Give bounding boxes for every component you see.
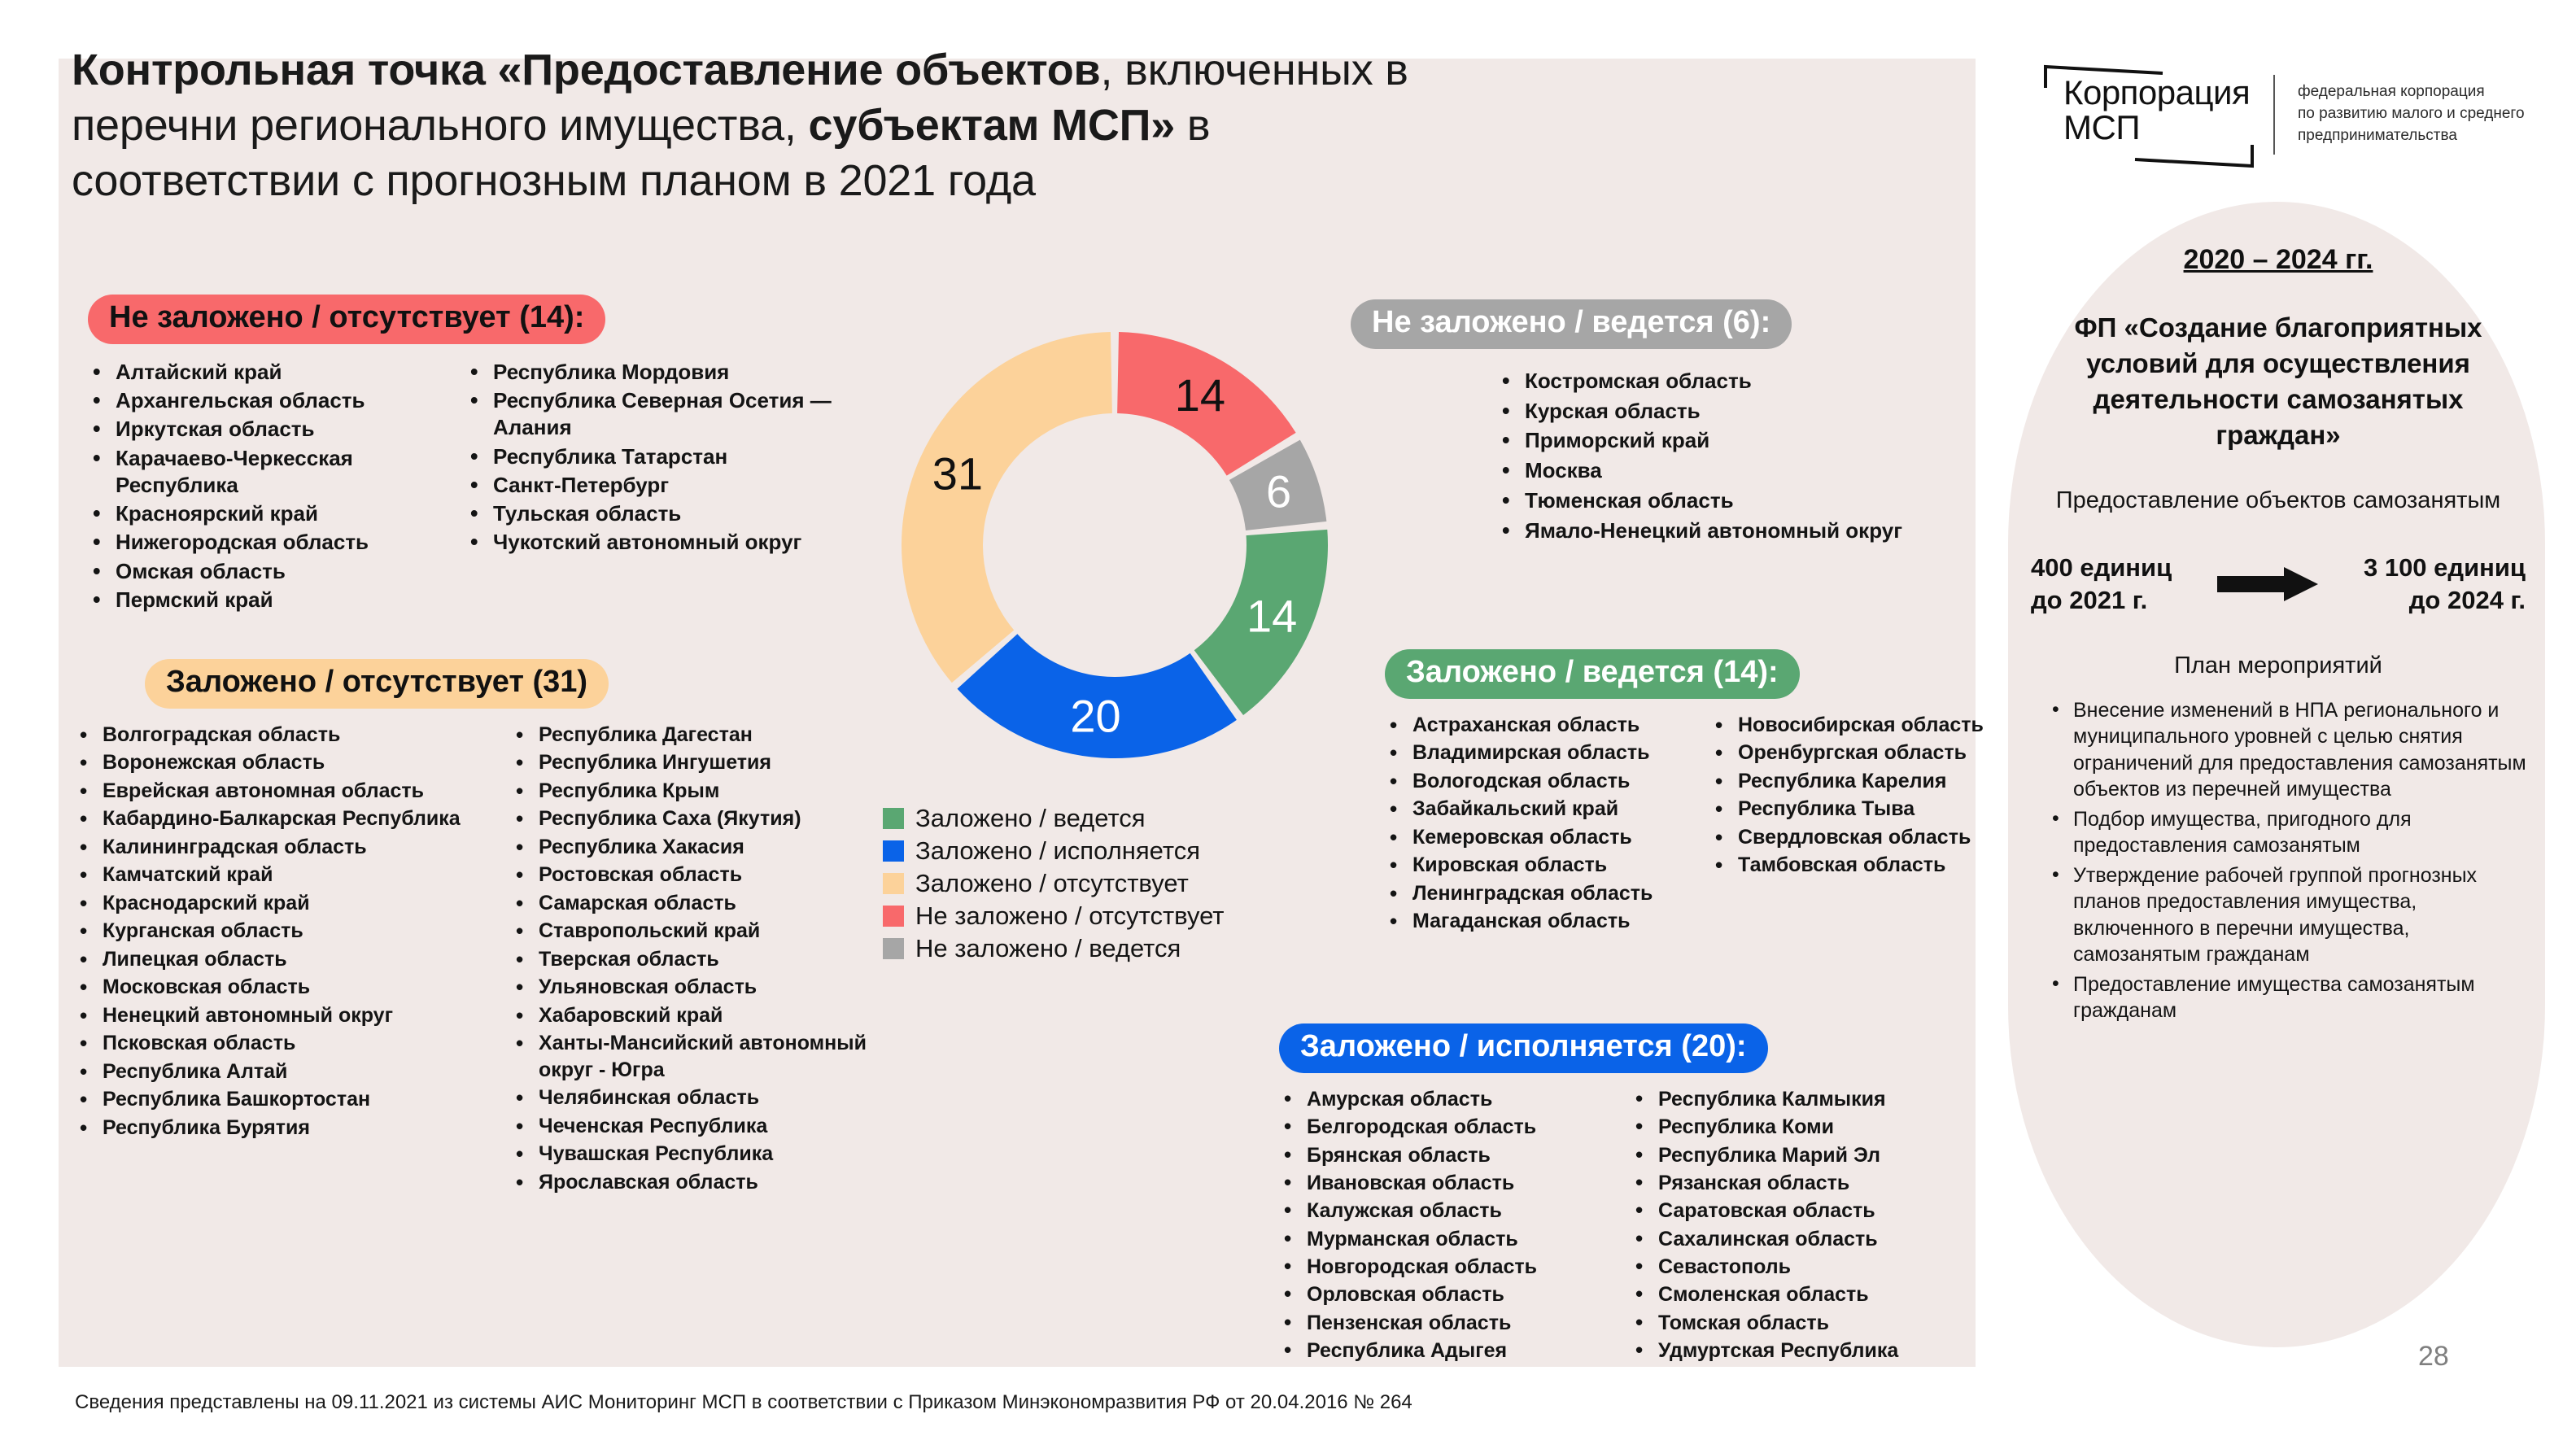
region-list-item: Томская область bbox=[1631, 1310, 1980, 1336]
target-future-value: 3 100 единиц bbox=[2364, 552, 2526, 584]
slide-root: Контрольная точка «Предоставление объект… bbox=[0, 0, 2576, 1449]
region-list-item: Республика Хакасия bbox=[511, 834, 893, 861]
region-list-item: Костромская область bbox=[1497, 367, 1993, 395]
category-header-planned-inprogress: Заложено / ведется (14): bbox=[1385, 649, 1800, 699]
region-list-item: Республика Алтай bbox=[75, 1058, 498, 1085]
legend-swatch-icon bbox=[883, 808, 904, 829]
category-block-planned-inprogress: Заложено / ведется (14): Астраханская об… bbox=[1385, 649, 1995, 936]
legend-item: Заложено / исполняется bbox=[883, 838, 1225, 863]
category-block-planned-executing: Заложено / исполняется (20): Амурская об… bbox=[1279, 1023, 1995, 1366]
legend-label: Заложено / ведется bbox=[915, 805, 1146, 831]
region-list-item: Республика Мордовия bbox=[465, 359, 897, 386]
legend-swatch-icon bbox=[883, 938, 904, 959]
region-list-item: Ростовская область bbox=[511, 862, 893, 888]
right-panel-plan-list: Внесение изменений в НПА регионального и… bbox=[2028, 697, 2529, 1024]
region-list-item: Московская область bbox=[75, 974, 498, 1001]
region-list-item: Новгородская область bbox=[1279, 1254, 1621, 1280]
region-list-item: Мурманская область bbox=[1279, 1226, 1621, 1252]
legend-item: Не заложено / отсутствует bbox=[883, 903, 1225, 928]
region-list-item: Свердловская область bbox=[1710, 824, 1995, 851]
donut-chart: 146142031 bbox=[887, 317, 1343, 773]
region-list-item: Оренбургская область bbox=[1710, 740, 1995, 766]
donut-slice-value: 20 bbox=[1070, 691, 1120, 742]
region-list-item: Камчатский край bbox=[75, 862, 498, 888]
right-panel-subtitle: Предоставление объектов самозанятым bbox=[2028, 486, 2529, 517]
region-list-item: Тюменская область bbox=[1497, 487, 1993, 515]
category-header-planned-executing: Заложено / исполняется (20): bbox=[1279, 1023, 1768, 1073]
region-list-item: Алтайский край bbox=[88, 359, 454, 386]
region-list-item: Республика Ингушетия bbox=[511, 749, 893, 776]
region-list-item: Саратовская область bbox=[1631, 1198, 1980, 1224]
target-future: 3 100 единиц до 2024 г. bbox=[2364, 552, 2526, 616]
chart-legend: Заложено / ведетсяЗаложено / исполняется… bbox=[883, 805, 1225, 968]
region-columns: Амурская областьБелгородская областьБрян… bbox=[1279, 1086, 1995, 1366]
logo-tagline-2: по развитию малого и среднего bbox=[2298, 103, 2525, 125]
category-header-planned-absent: Заложено / отсутствует (31) bbox=[145, 659, 609, 709]
region-list-column-b: Республика КалмыкияРеспублика КомиРеспуб… bbox=[1631, 1086, 1980, 1366]
region-list-item: Брянская область bbox=[1279, 1142, 1621, 1168]
right-panel-years: 2020 – 2024 гг. bbox=[2028, 244, 2529, 276]
plan-list-item: Утверждение рабочей группой прогнозных п… bbox=[2049, 862, 2529, 968]
legend-label: Не заложено / отсутствует bbox=[915, 903, 1225, 928]
region-list-item: Республика Коми bbox=[1631, 1114, 1980, 1140]
logo-divider bbox=[2273, 75, 2275, 155]
donut-slice-value: 31 bbox=[932, 448, 983, 500]
legend-item: Заложено / отсутствует bbox=[883, 871, 1225, 896]
region-list-item: Курская область bbox=[1497, 397, 1993, 426]
region-list-item: Карачаево-Черкесская Республика bbox=[88, 445, 454, 500]
region-list-item: Сахалинская область bbox=[1631, 1226, 1980, 1252]
category-block-not-planned-absent: Не заложено / отсутствует (14): Алтайски… bbox=[88, 295, 910, 615]
region-list-item: Республика Крым bbox=[511, 778, 893, 805]
region-list-column-a: Астраханская областьВладимирская область… bbox=[1385, 712, 1702, 936]
region-list-item: Смоленская область bbox=[1631, 1281, 1980, 1307]
legend-label: Не заложено / ведется bbox=[915, 936, 1181, 961]
region-list-column-b: Новосибирская областьОренбургская област… bbox=[1710, 712, 1995, 936]
region-list-item: Ставропольский край bbox=[511, 918, 893, 945]
region-list-item: Ханты-Мансийский автономный округ - Югра bbox=[511, 1030, 893, 1083]
region-list-item: Тверская область bbox=[511, 946, 893, 973]
logo-tagline-3: предпринимательства bbox=[2298, 125, 2525, 147]
logo-tagline-1: федеральная корпорация bbox=[2298, 81, 2525, 103]
region-list-item: Республика Бурятия bbox=[75, 1115, 498, 1141]
region-list-item: Калининградская область bbox=[75, 834, 498, 861]
legend-swatch-icon bbox=[883, 873, 904, 894]
region-list-item: Республика Карелия bbox=[1710, 768, 1995, 795]
target-current-deadline: до 2021 г. bbox=[2031, 584, 2172, 617]
donut-slice-value: 14 bbox=[1175, 369, 1225, 421]
region-list-item: Севастополь bbox=[1631, 1254, 1980, 1280]
plan-list-item: Подбор имущества, пригодного для предост… bbox=[2049, 806, 2529, 859]
target-current-value: 400 единиц bbox=[2031, 552, 2172, 584]
plan-list-item: Предоставление имущества самозанятым гра… bbox=[2049, 971, 2529, 1024]
region-list-item: Владимирская область bbox=[1385, 740, 1702, 766]
title-line2-tail: в bbox=[1175, 101, 1210, 150]
region-list-item: Рязанская область bbox=[1631, 1170, 1980, 1196]
region-list-item: Чукотский автономный округ bbox=[465, 529, 897, 556]
region-list-item: Иркутская область bbox=[88, 416, 454, 443]
region-list-item: Чувашская Республика bbox=[511, 1141, 893, 1167]
right-panel-plan-title: План мероприятий bbox=[2028, 652, 2529, 679]
region-list-item: Волгоградская область bbox=[75, 722, 498, 749]
title-line1-rest: , включенных в bbox=[1101, 46, 1408, 94]
region-list-item: Ленинградская область bbox=[1385, 880, 1702, 907]
region-list-column-a: Алтайский крайАрхангельская областьИркут… bbox=[88, 359, 454, 615]
region-list-item: Самарская область bbox=[511, 890, 893, 917]
region-list-item: Республика Калмыкия bbox=[1631, 1086, 1980, 1112]
region-list-item: Пермский край bbox=[88, 587, 454, 613]
title-line3: соответствии с прогнозным планом в 2021 … bbox=[72, 156, 1036, 205]
donut-slice bbox=[902, 332, 1112, 683]
donut-slice-value: 6 bbox=[1266, 465, 1291, 517]
region-list-item: Орловская область bbox=[1279, 1281, 1621, 1307]
region-columns: Астраханская областьВладимирская область… bbox=[1385, 712, 1995, 936]
region-list-item: Ненецкий автономный округ bbox=[75, 1002, 498, 1029]
region-list-item: Санкт-Петербург bbox=[465, 472, 897, 499]
region-list-item: Республика Татарстан bbox=[465, 443, 897, 470]
region-list-item: Магаданская область bbox=[1385, 908, 1702, 935]
region-list-item: Воронежская область bbox=[75, 749, 498, 776]
region-list-item: Липецкая область bbox=[75, 946, 498, 973]
plan-list-item: Внесение изменений в НПА регионального и… bbox=[2049, 697, 2529, 803]
region-list-item: Республика Башкортостан bbox=[75, 1086, 498, 1113]
region-list-column-b: Республика ДагестанРеспублика ИнгушетияР… bbox=[511, 722, 893, 1198]
region-list-item: Псковская область bbox=[75, 1030, 498, 1057]
region-columns: Алтайский крайАрхангельская областьИркут… bbox=[88, 359, 910, 615]
region-list-item: Курганская область bbox=[75, 918, 498, 945]
region-list-item: Хабаровский край bbox=[511, 1002, 893, 1029]
region-list-item: Архангельская область bbox=[88, 387, 454, 414]
region-columns: Волгоградская областьВоронежская область… bbox=[75, 722, 913, 1198]
target-current: 400 единиц до 2021 г. bbox=[2031, 552, 2172, 616]
region-list-column-a: Амурская областьБелгородская областьБрян… bbox=[1279, 1086, 1621, 1366]
region-list-column-a: Волгоградская областьВоронежская область… bbox=[75, 722, 498, 1198]
right-panel-targets: 400 единиц до 2021 г. 3 100 единиц до 20… bbox=[2028, 552, 2529, 616]
region-list-item: Вологодская область bbox=[1385, 768, 1702, 795]
region-list-item: Забайкальский край bbox=[1385, 796, 1702, 823]
footer-note: Сведения представлены на 09.11.2021 из с… bbox=[75, 1391, 1412, 1414]
region-list-item: Ивановская область bbox=[1279, 1170, 1621, 1196]
logo-wordmark: Корпорация МСП bbox=[2063, 75, 2250, 146]
legend-item: Заложено / ведется bbox=[883, 805, 1225, 831]
category-block-planned-absent: Заложено / отсутствует (31) Волгоградска… bbox=[75, 659, 913, 1197]
corporation-msp-logo: Корпорация МСП федеральная корпорация по… bbox=[2042, 63, 2525, 169]
category-header-wrap: Заложено / отсутствует (31) bbox=[75, 659, 913, 709]
legend-swatch-icon bbox=[883, 840, 904, 862]
region-list-item: Республика Дагестан bbox=[511, 722, 893, 749]
region-list-item: Удмуртская Республика bbox=[1631, 1338, 1980, 1364]
logo-tagline: федеральная корпорация по развитию малог… bbox=[2298, 63, 2525, 147]
region-list-item: Челябинская область bbox=[511, 1085, 893, 1111]
target-future-deadline: до 2024 г. bbox=[2364, 584, 2526, 617]
region-list-item: Тульская область bbox=[465, 500, 897, 527]
region-list-item: Ямало-Ненецкий автономный округ bbox=[1497, 517, 1993, 545]
region-list: Костромская областьКурская областьПримор… bbox=[1497, 367, 1993, 545]
region-list-item: Кировская область bbox=[1385, 852, 1702, 879]
region-list-item: Белгородская область bbox=[1279, 1114, 1621, 1140]
title-line2-bold: субъектам МСП» bbox=[809, 101, 1176, 150]
title-line2-rest: перечни регионального имущества, bbox=[72, 101, 809, 150]
region-list-item: Краснодарский край bbox=[75, 890, 498, 917]
region-list-item: Республика Тыва bbox=[1710, 796, 1995, 823]
region-list-item: Республика Адыгея bbox=[1279, 1338, 1621, 1364]
title-line1-bold: Контрольная точка «Предоставление объект… bbox=[72, 46, 1101, 94]
legend-label: Заложено / исполняется bbox=[915, 838, 1200, 863]
donut-slice-value: 14 bbox=[1247, 590, 1297, 641]
region-list-item: Ульяновская область bbox=[511, 974, 893, 1001]
page-number: 28 bbox=[2418, 1341, 2449, 1373]
category-block-not-planned-inprogress: Не заложено / ведется (6): Костромская о… bbox=[1351, 299, 1993, 547]
legend-label: Заложено / отсутствует bbox=[915, 871, 1189, 896]
region-list-item: Калужская область bbox=[1279, 1198, 1621, 1224]
region-list-item: Чеченская Республика bbox=[511, 1113, 893, 1140]
category-header-not-planned-inprogress: Не заложено / ведется (6): bbox=[1351, 299, 1792, 349]
region-list-item: Амурская область bbox=[1279, 1086, 1621, 1112]
region-list-item: Приморский край bbox=[1497, 426, 1993, 455]
region-list-item: Астраханская область bbox=[1385, 712, 1702, 739]
region-list-item: Нижегородская область bbox=[88, 529, 454, 556]
region-list-item: Тамбовская область bbox=[1710, 852, 1995, 879]
region-list-item: Москва bbox=[1497, 456, 1993, 485]
logo-word-line1: Корпорация bbox=[2063, 75, 2250, 110]
region-list-item: Омская область bbox=[88, 558, 454, 585]
logo-bracket-mark: Корпорация МСП bbox=[2042, 63, 2255, 169]
category-header-not-planned-absent: Не заложено / отсутствует (14): bbox=[88, 295, 605, 344]
region-list-item: Кабардино-Балкарская Республика bbox=[75, 805, 498, 832]
region-list-item: Красноярский край bbox=[88, 500, 454, 527]
right-panel-program-title: ФП «Создание благоприятных условий для о… bbox=[2028, 310, 2529, 453]
region-list-item: Республика Северная Осетия — Алания bbox=[465, 387, 897, 442]
page-title: Контрольная точка «Предоставление объект… bbox=[72, 42, 1845, 208]
right-panel-content: 2020 – 2024 гг. ФП «Создание благоприятн… bbox=[2028, 244, 2529, 1028]
region-list-item: Республика Марий Эл bbox=[1631, 1142, 1980, 1168]
logo-word-line2: МСП bbox=[2063, 110, 2250, 145]
region-list-column-b: Республика МордовияРеспублика Северная О… bbox=[465, 359, 897, 615]
region-list-item: Кемеровская область bbox=[1385, 824, 1702, 851]
region-list-item: Новосибирская область bbox=[1710, 712, 1995, 739]
region-list-item: Еврейская автономная область bbox=[75, 778, 498, 805]
legend-swatch-icon bbox=[883, 906, 904, 927]
region-list-item: Пензенская область bbox=[1279, 1310, 1621, 1336]
arrow-right-icon bbox=[2217, 565, 2318, 603]
region-list-item: Ярославская область bbox=[511, 1169, 893, 1196]
legend-item: Не заложено / ведется bbox=[883, 936, 1225, 961]
donut-chart-svg: 146142031 bbox=[887, 317, 1343, 773]
region-list-item: Республика Саха (Якутия) bbox=[511, 805, 893, 832]
